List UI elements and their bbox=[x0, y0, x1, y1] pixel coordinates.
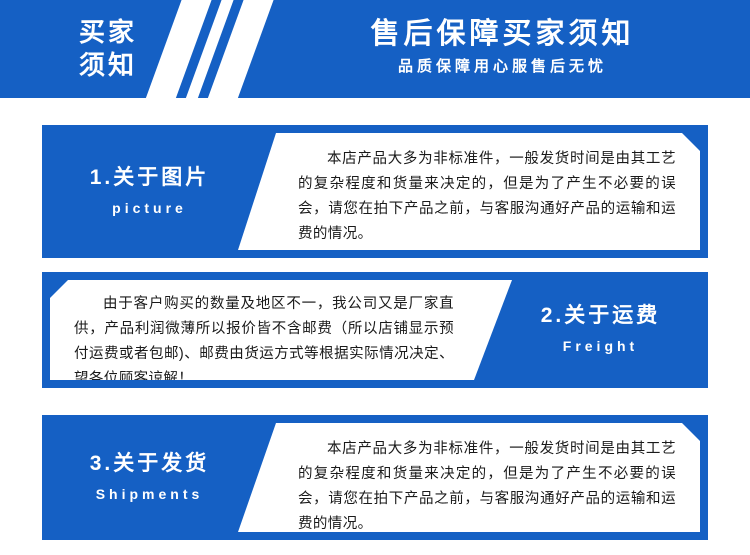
section-body-panel: 本店产品大多为非标准件，一般发货时间是由其工艺的复杂程度和货量来决定的，但是为了… bbox=[238, 423, 700, 532]
section-label-cn: 2.关于运费 bbox=[541, 301, 661, 331]
banner-title: 售后保障买家须知 bbox=[255, 14, 750, 54]
notice-section-freight: 2.关于运费 Freight 由于客户购买的数量及地区不一，我公司又是厂家直供，… bbox=[42, 272, 708, 388]
banner-badge-line-2: 须知 bbox=[48, 49, 168, 82]
section-body-text: 本店产品大多为非标准件，一般发货时间是由其工艺的复杂程度和货量来决定的，但是为了… bbox=[298, 437, 676, 537]
banner-subtitle: 品质保障用心服售后无忧 bbox=[255, 54, 750, 80]
notice-section-shipments: 3.关于发货 Shipments 本店产品大多为非标准件，一般发货时间是由其工艺… bbox=[42, 415, 708, 540]
banner-badge: 买家 须知 bbox=[48, 16, 168, 82]
section-label-cn: 1.关于图片 bbox=[90, 163, 210, 193]
section-label-en: Shipments bbox=[96, 481, 204, 507]
banner-badge-line-1: 买家 bbox=[48, 16, 168, 49]
notice-section-picture: 1.关于图片 picture 本店产品大多为非标准件，一般发货时间是由其工艺的复… bbox=[42, 125, 708, 258]
banner-title-group: 售后保障买家须知 品质保障用心服售后无忧 bbox=[255, 14, 750, 80]
section-label-freight: 2.关于运费 Freight bbox=[493, 272, 708, 388]
section-label-en: picture bbox=[112, 195, 187, 221]
section-label-en: Freight bbox=[563, 333, 638, 359]
section-body-panel: 本店产品大多为非标准件，一般发货时间是由其工艺的复杂程度和货量来决定的，但是为了… bbox=[238, 133, 700, 250]
section-label-cn: 3.关于发货 bbox=[90, 449, 210, 479]
section-label-picture: 1.关于图片 picture bbox=[42, 125, 257, 258]
section-body-text: 由于客户购买的数量及地区不一，我公司又是厂家直供，产品利润微薄所以报价皆不含邮费… bbox=[74, 292, 454, 392]
header-banner: 买家 须知 售后保障买家须知 品质保障用心服售后无忧 bbox=[0, 0, 750, 98]
section-body-text: 本店产品大多为非标准件，一般发货时间是由其工艺的复杂程度和货量来决定的，但是为了… bbox=[298, 147, 676, 247]
section-body-panel: 由于客户购买的数量及地区不一，我公司又是厂家直供，产品利润微薄所以报价皆不含邮费… bbox=[50, 280, 512, 380]
section-label-shipments: 3.关于发货 Shipments bbox=[42, 415, 257, 540]
